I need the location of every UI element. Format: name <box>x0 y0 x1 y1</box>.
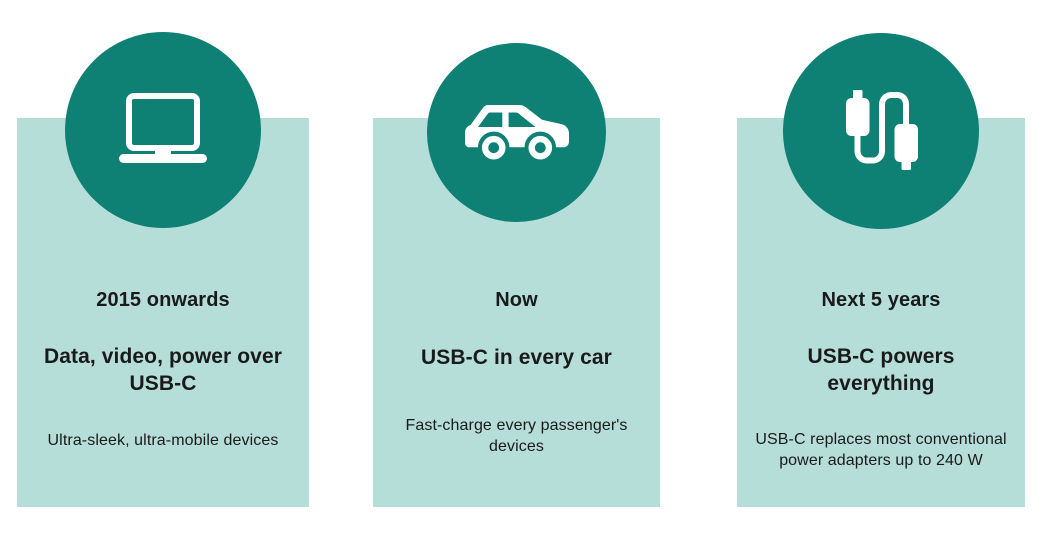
card-caption: Fast-charge every passenger's devices <box>373 415 660 457</box>
timeline-card-usb-cable: Next 5 years USB-C powers everything USB… <box>737 0 1025 538</box>
card-headline: USB-C powers everything <box>737 343 1025 397</box>
timeline-card-car: Now USB-C in every car Fast-charge every… <box>373 0 660 538</box>
timeline-card-laptop: 2015 onwards Data, video, power over USB… <box>17 0 309 538</box>
card-caption: USB-C replaces most conventional power a… <box>737 429 1025 471</box>
card-headline: USB-C in every car <box>373 344 660 371</box>
card-eyebrow: 2015 onwards <box>17 288 309 312</box>
icon-medallion <box>427 43 606 222</box>
infographic-root: 2015 onwards Data, video, power over USB… <box>0 0 1049 538</box>
icon-medallion <box>783 33 979 229</box>
card-text-stack: 2015 onwards Data, video, power over USB… <box>17 288 309 451</box>
card-text-stack: Next 5 years USB-C powers everything USB… <box>737 288 1025 471</box>
card-headline: Data, video, power over USB-C <box>17 343 309 397</box>
usb-cable-icon <box>838 90 924 172</box>
icon-medallion <box>65 32 261 228</box>
card-eyebrow: Next 5 years <box>737 288 1025 312</box>
card-eyebrow: Now <box>373 288 660 312</box>
car-icon <box>465 101 569 164</box>
laptop-icon <box>117 93 209 167</box>
card-caption: Ultra-sleek, ultra-mobile devices <box>17 430 309 451</box>
card-text-stack: Now USB-C in every car Fast-charge every… <box>373 288 660 457</box>
